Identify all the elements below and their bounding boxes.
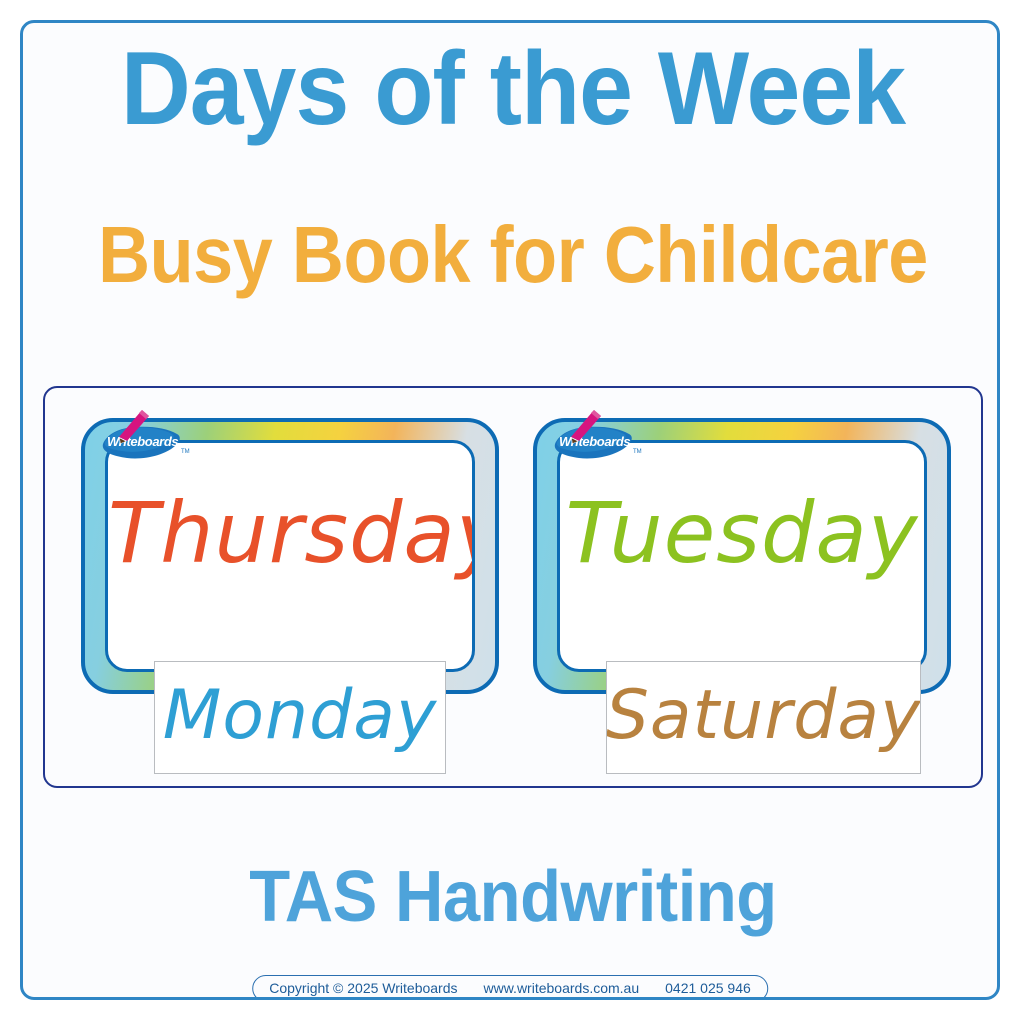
- whiteboard-surface-left: Thursday: [105, 440, 475, 672]
- whiteboard-surface-right: Tuesday: [557, 440, 927, 672]
- day-word-thursday: Thursday: [108, 491, 472, 575]
- footer-phone: 0421 025 946: [665, 979, 751, 997]
- overlay-word-saturday: Saturday: [606, 682, 921, 750]
- page-subtitle: Busy Book for Childcare: [72, 215, 954, 295]
- poster-page: Days of the Week Busy Book for Childcare…: [0, 0, 1024, 1024]
- poster-frame: Days of the Week Busy Book for Childcare…: [20, 20, 1000, 1000]
- whiteboard-card-left[interactable]: Thursday Writeboards TM: [81, 418, 499, 694]
- overlay-word-box-saturday[interactable]: Saturday: [606, 661, 921, 774]
- day-word-tuesday: Tuesday: [560, 491, 924, 575]
- footer-credit-pill: Copyright © 2025 Writeboards www.writebo…: [252, 975, 768, 1000]
- handwriting-style-label: TAS Handwriting: [57, 861, 968, 933]
- overlay-word-monday: Monday: [163, 682, 437, 750]
- whiteboard-card-right[interactable]: Tuesday Writeboards TM: [533, 418, 951, 694]
- footer-copyright: Copyright © 2025 Writeboards: [269, 979, 457, 997]
- page-title: Days of the Week: [57, 37, 968, 141]
- footer-website[interactable]: www.writeboards.com.au: [484, 979, 640, 997]
- overlay-word-box-monday[interactable]: Monday: [154, 661, 446, 774]
